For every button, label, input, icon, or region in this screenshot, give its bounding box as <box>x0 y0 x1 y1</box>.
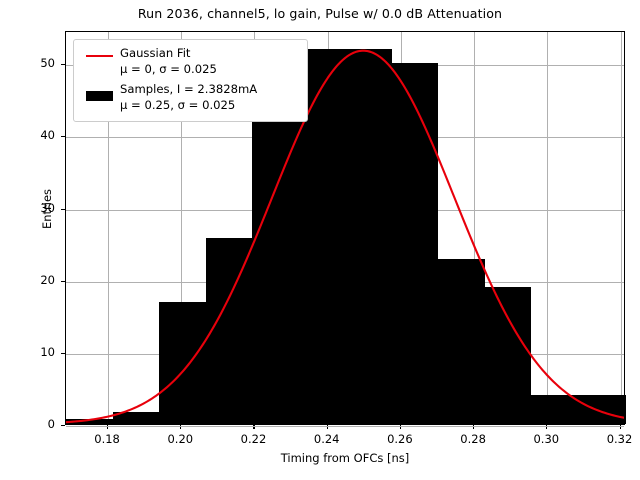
legend-label-line2: μ = 0.25, σ = 0.025 <box>120 98 257 114</box>
y-axis-label: Entries <box>40 149 54 269</box>
x-tick-label: 0.28 <box>448 432 498 446</box>
y-tick-mark <box>61 209 65 210</box>
y-tick-label: 40 <box>15 128 55 142</box>
legend-text-gaussian-fit: Gaussian Fit μ = 0, σ = 0.025 <box>116 46 217 77</box>
legend-entry-samples: Samples, I = 2.3828mA μ = 0.25, σ = 0.02… <box>82 82 299 113</box>
y-tick-label: 20 <box>15 273 55 287</box>
y-tick-mark <box>61 425 65 426</box>
y-tick-label: 10 <box>15 345 55 359</box>
x-tick-label: 0.20 <box>155 432 205 446</box>
y-tick-label: 0 <box>15 417 55 431</box>
matplotlib-figure: Run 2036, channel5, lo gain, Pulse w/ 0.… <box>0 0 640 480</box>
y-tick-mark <box>61 353 65 354</box>
x-axis-label: Timing from OFCs [ns] <box>65 451 625 465</box>
x-tick-label: 0.22 <box>228 432 278 446</box>
legend-label-line1: Samples, I = 2.3828mA <box>120 82 257 98</box>
y-tick-mark <box>61 64 65 65</box>
y-tick-label: 50 <box>15 56 55 70</box>
x-tick-label: 0.18 <box>82 432 132 446</box>
legend-label-line1: Gaussian Fit <box>120 46 217 62</box>
x-tick-label: 0.26 <box>375 432 425 446</box>
gridline-horizontal <box>66 426 624 427</box>
chart-title: Run 2036, channel5, lo gain, Pulse w/ 0.… <box>0 6 640 21</box>
y-tick-mark <box>61 136 65 137</box>
y-tick-mark <box>61 281 65 282</box>
x-tick-label: 0.24 <box>302 432 352 446</box>
legend-patch-handle-icon <box>82 82 116 101</box>
legend: Gaussian Fit μ = 0, σ = 0.025 Samples, I… <box>73 39 308 122</box>
legend-text-samples: Samples, I = 2.3828mA μ = 0.25, σ = 0.02… <box>116 82 257 113</box>
legend-line-handle-icon <box>82 46 116 57</box>
x-tick-label: 0.32 <box>595 432 640 446</box>
legend-label-line2: μ = 0, σ = 0.025 <box>120 62 217 78</box>
legend-entry-gaussian-fit: Gaussian Fit μ = 0, σ = 0.025 <box>82 46 299 77</box>
x-tick-label: 0.30 <box>521 432 571 446</box>
